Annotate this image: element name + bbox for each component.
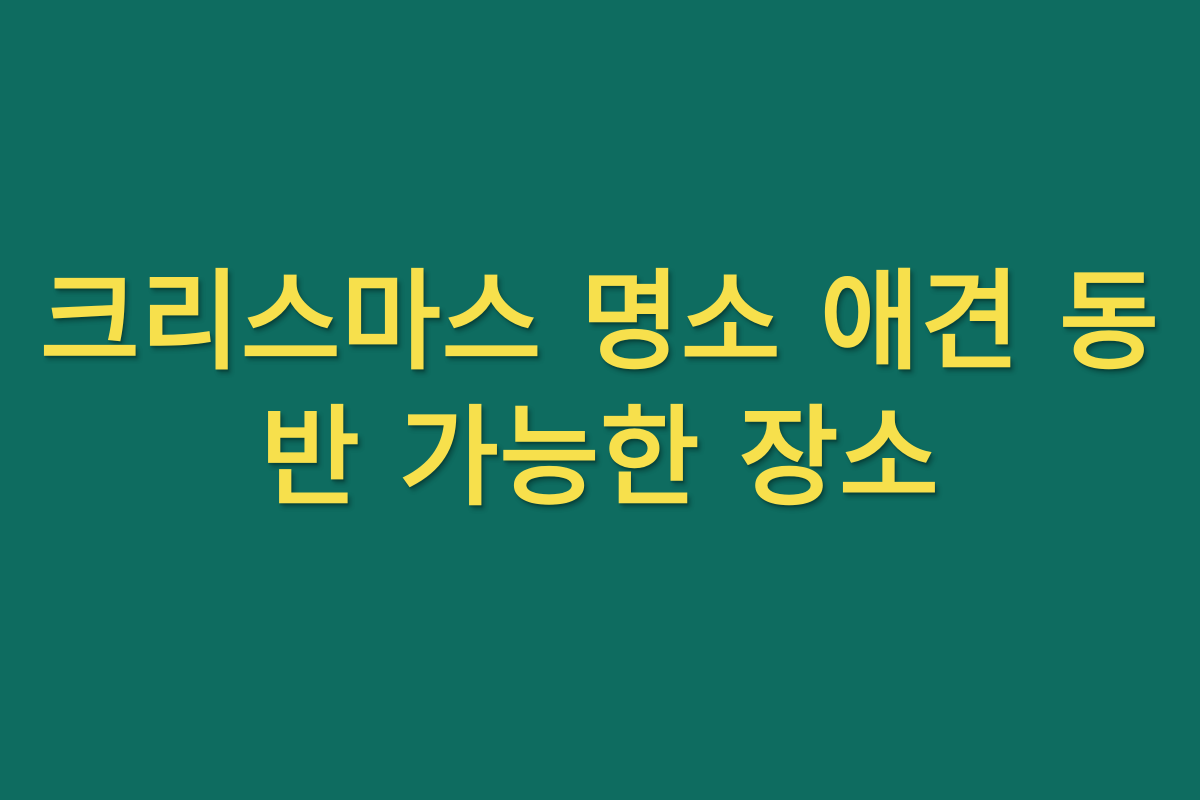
headline-line-2: 반 가능한 장소 — [260, 393, 939, 525]
banner-canvas: 크리스마스 명소 애견 동 반 가능한 장소 — [0, 0, 1200, 800]
headline-line-1: 크리스마스 명소 애견 동 — [40, 257, 1159, 389]
headline-text-block: 크리스마스 명소 애견 동 반 가능한 장소 — [60, 257, 1140, 525]
